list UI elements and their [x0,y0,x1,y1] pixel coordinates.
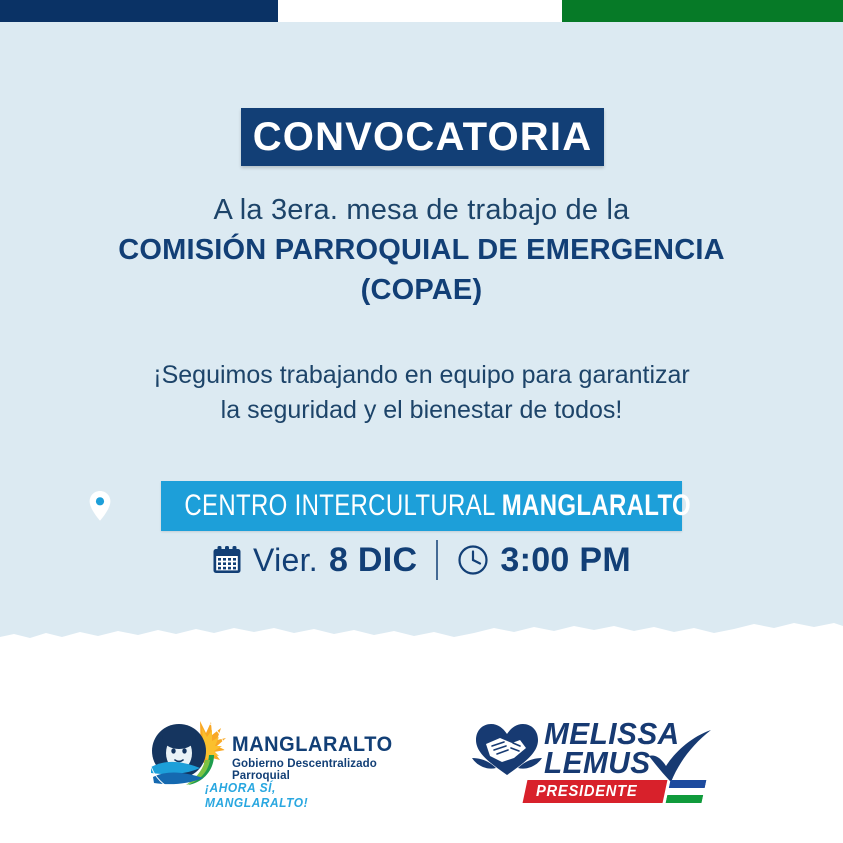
presidente-label: PRESIDENTE [536,782,656,802]
venue-label: CENTRO INTERCULTURAL MANGLARALTO [184,489,691,523]
gad-name: MANGLARALTO [232,733,393,757]
clock-icon [457,544,489,576]
slogan-line-1: ¡Seguimos trabajando en equipo para gara… [0,358,843,393]
torn-paper-edge [0,621,843,651]
melissa-last-name: LEMUS [544,747,651,778]
gad-subtitle: Gobierno Descentralizado Parroquial [232,758,378,782]
heart-handshake-icon [470,718,544,780]
datetime-separator [436,540,438,580]
date-label: 8 DIC [329,541,417,580]
venue-prefix: CENTRO INTERCULTURAL [184,489,501,522]
flag-icon [666,780,707,803]
poster-body: CONVOCATORIA A la 3era. mesa de trabajo … [0,22,843,665]
footer-logos: MANGLARALTO Gobierno Descentralizado Par… [0,700,843,810]
logo-manglaralto: MANGLARALTO Gobierno Descentralizado Par… [148,715,378,805]
slogan-block: ¡Seguimos trabajando en equipo para gara… [0,358,843,428]
headline-line-1: A la 3era. mesa de trabajo de la [0,192,843,228]
top-color-bar [0,0,843,22]
datetime-row: Vier. 8 DIC 3:00 PM [0,540,843,580]
top-bar-segment-navy [0,0,278,22]
time-label: 3:00 PM [500,541,631,580]
map-pin-icon [89,491,111,521]
venue-highlight: MANGLARALTO [502,489,691,522]
flag-stripe-green [666,795,704,803]
top-bar-segment-white [278,0,562,22]
headline-line-2: COMISIÓN PARROQUIAL DE EMERGENCIA [0,232,843,270]
flag-stripe-white [667,788,705,796]
slogan-line-2: la seguridad y el bienestar de todos! [0,393,843,428]
page-title: CONVOCATORIA [253,117,593,157]
headline-line-3: (COPAE) [0,272,843,310]
gad-tagline: ¡AHORA SÍ, MANGLARALTO! [205,780,364,810]
venue-bar: CENTRO INTERCULTURAL MANGLARALTO [161,481,682,531]
headline-block: A la 3era. mesa de trabajo de la COMISIÓ… [0,192,843,310]
top-bar-segment-green [562,0,843,22]
day-label: Vier. [253,542,318,579]
title-banner: CONVOCATORIA [241,108,604,166]
logo-melissa-lemus: MELISSA LEMUS PRESIDENTE [470,712,710,807]
calendar-icon [212,545,242,575]
flag-stripe-blue [669,780,707,788]
